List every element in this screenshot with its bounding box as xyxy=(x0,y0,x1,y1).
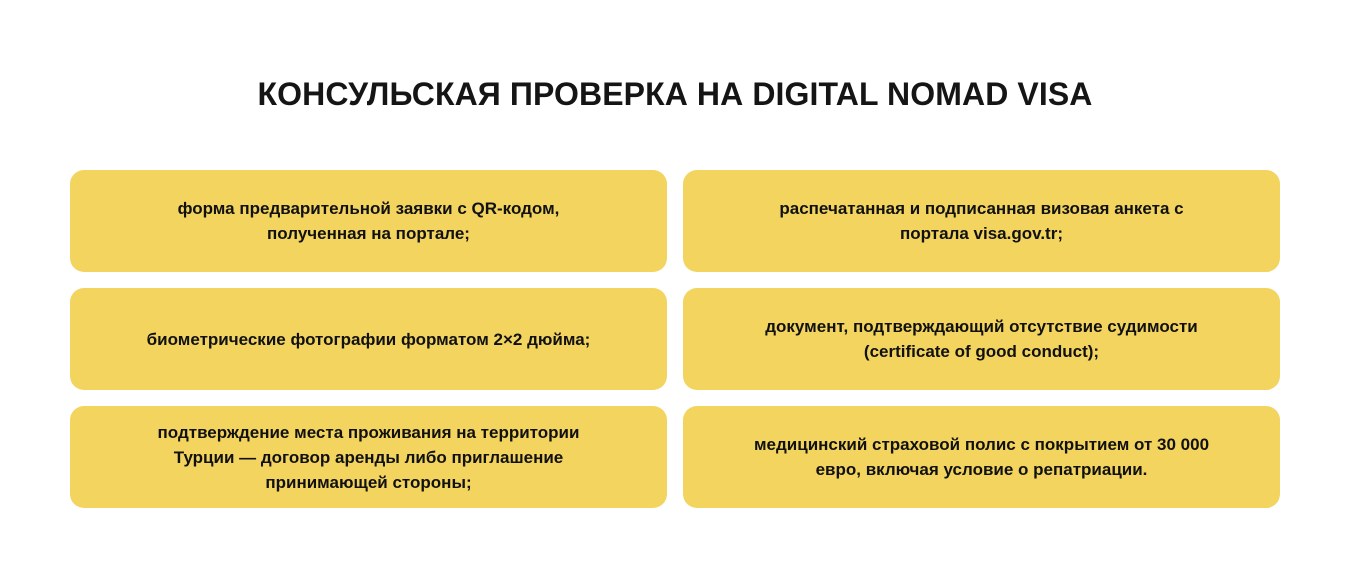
card-text: медицинский страховой полис с покрытием … xyxy=(754,432,1209,482)
card-preapplication-form: форма предварительной заявки с QR-кодом,… xyxy=(70,170,667,272)
card-text: подтверждение места проживания на террит… xyxy=(158,420,580,495)
card-text: распечатанная и подписанная визовая анке… xyxy=(779,196,1183,246)
requirements-card-grid: форма предварительной заявки с QR-кодом,… xyxy=(70,170,1280,508)
card-printed-visa-application: распечатанная и подписанная визовая анке… xyxy=(683,170,1280,272)
page-title: КОНСУЛЬСКАЯ ПРОВЕРКА НА DIGITAL NOMAD VI… xyxy=(0,74,1350,114)
card-text: документ, подтверждающий отсутствие суди… xyxy=(765,314,1198,364)
card-text: форма предварительной заявки с QR-кодом,… xyxy=(178,196,560,246)
card-good-conduct-certificate: документ, подтверждающий отсутствие суди… xyxy=(683,288,1280,390)
card-medical-insurance: медицинский страховой полис с покрытием … xyxy=(683,406,1280,508)
card-proof-of-residence: подтверждение места проживания на террит… xyxy=(70,406,667,508)
infographic-root: КОНСУЛЬСКАЯ ПРОВЕРКА НА DIGITAL NOMAD VI… xyxy=(0,0,1350,587)
card-text: биометрические фотографии форматом 2×2 д… xyxy=(147,327,591,352)
card-biometric-photos: биометрические фотографии форматом 2×2 д… xyxy=(70,288,667,390)
